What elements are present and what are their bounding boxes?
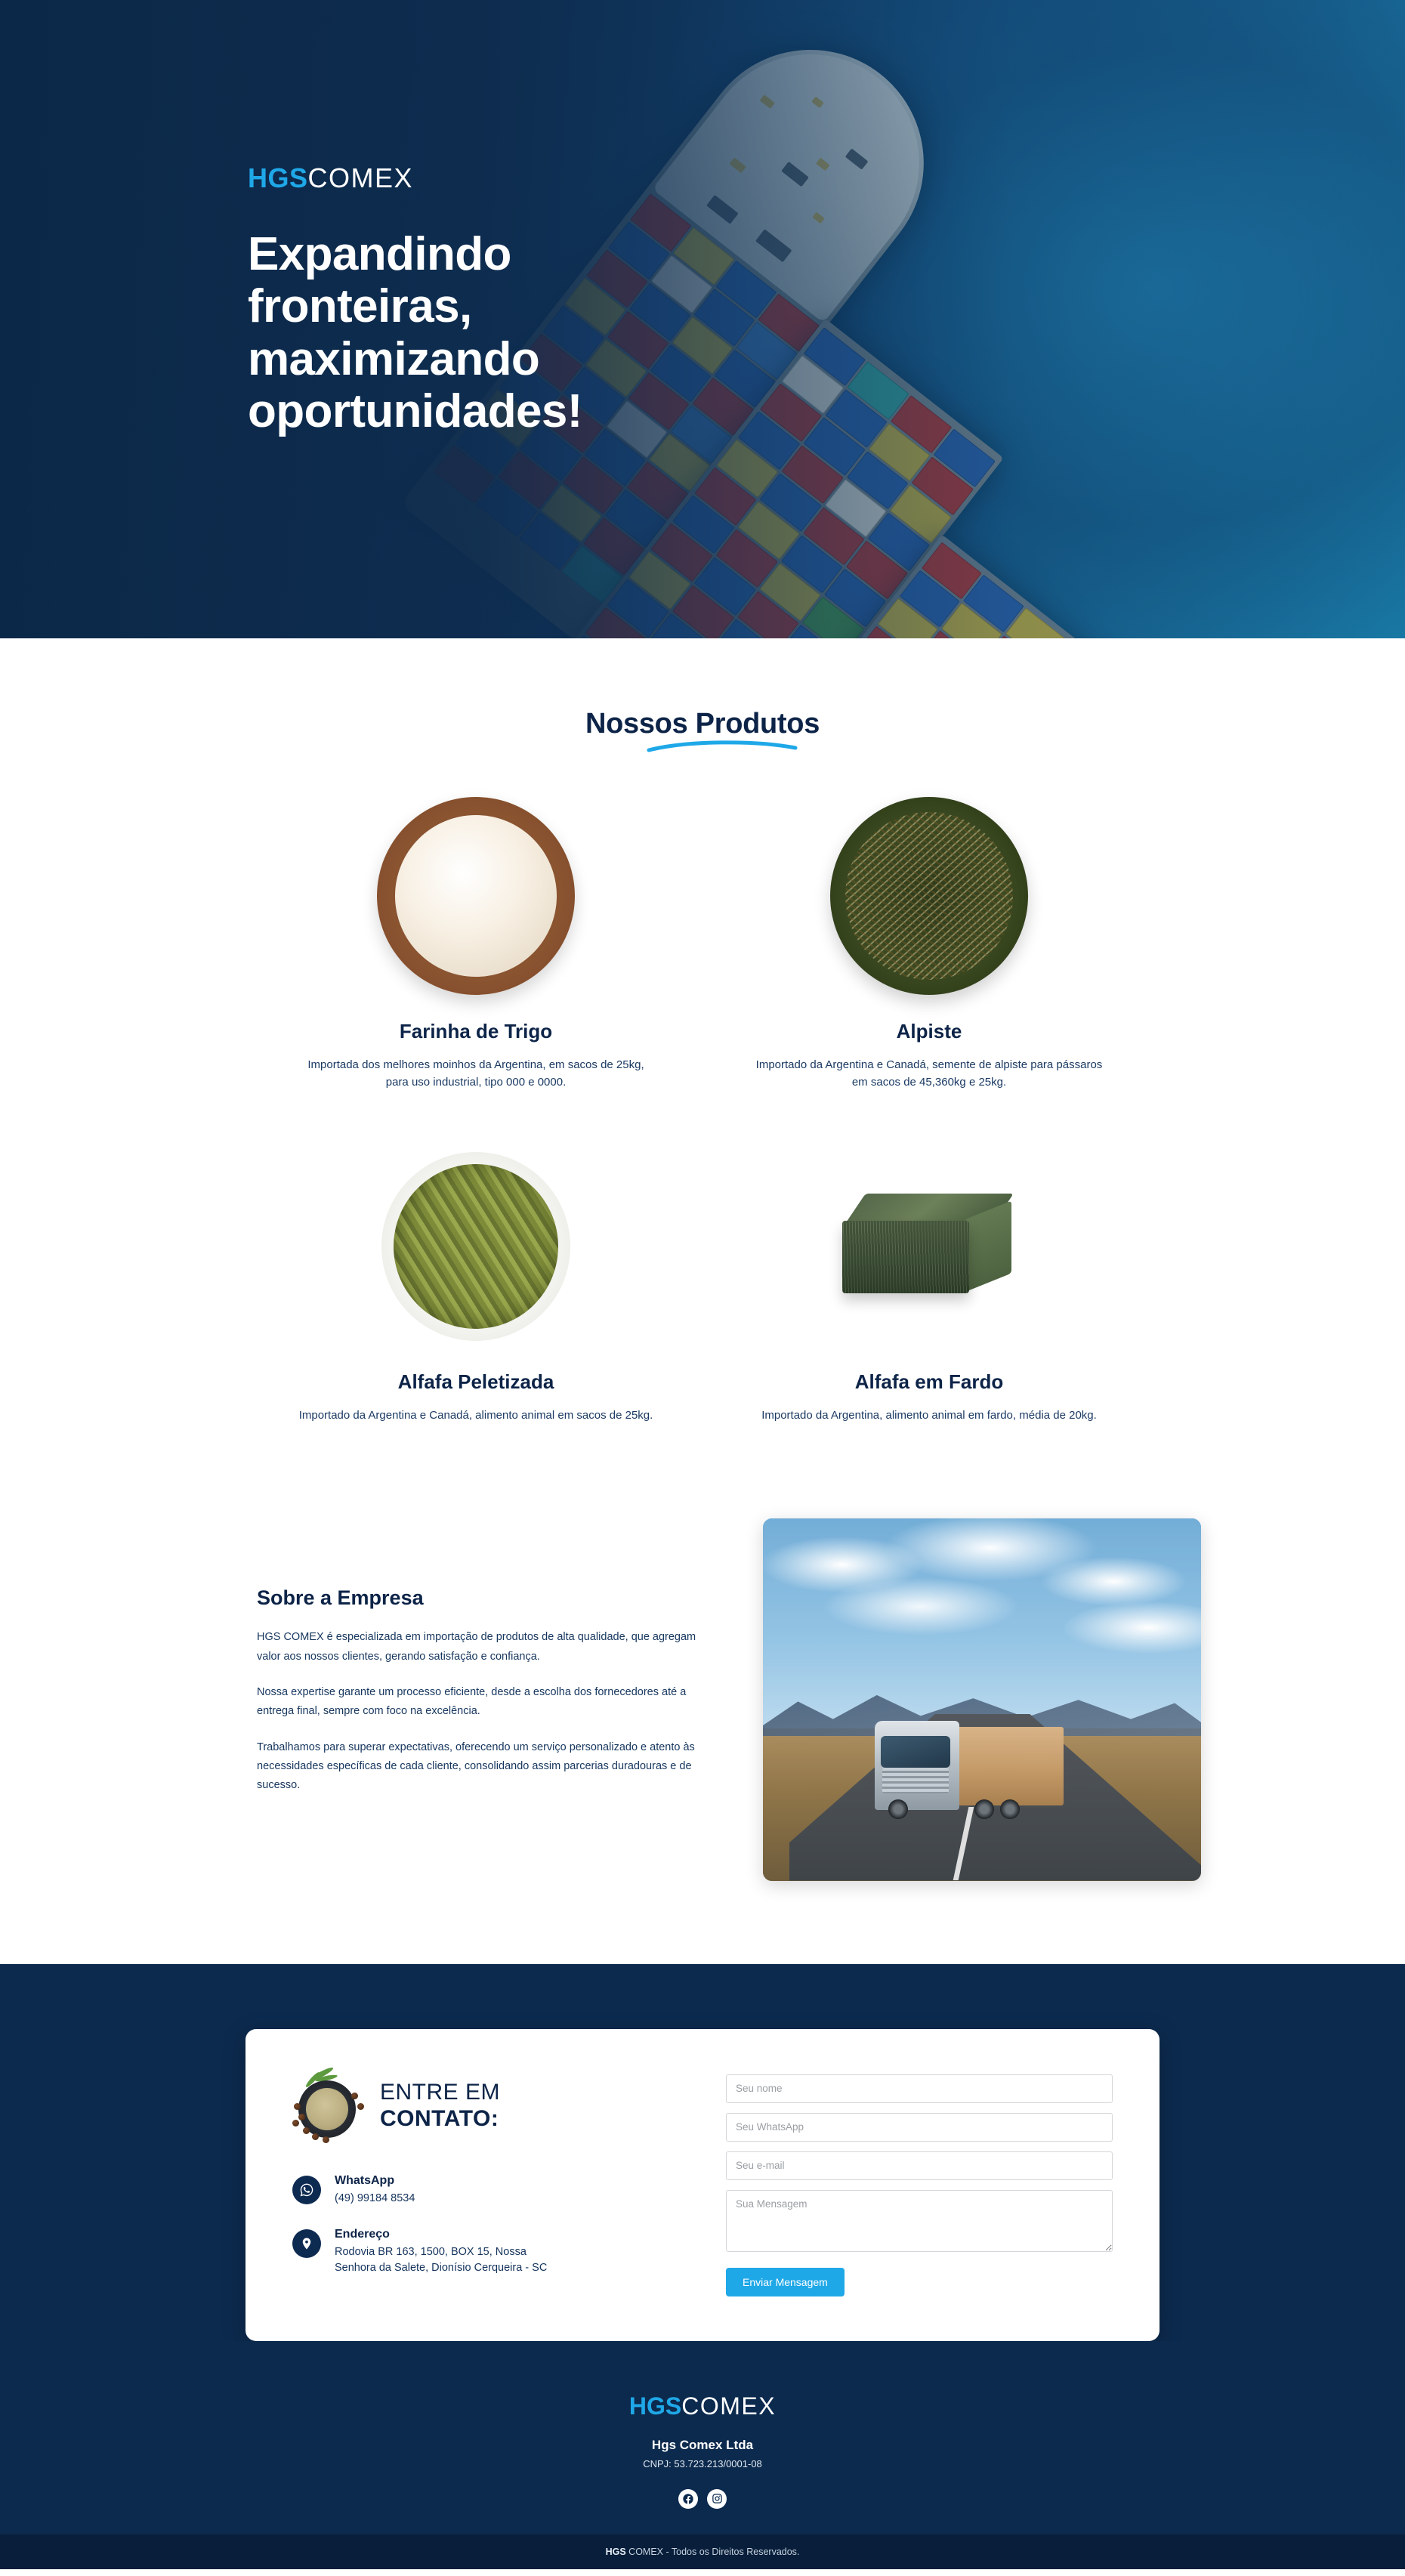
whatsapp-number[interactable]: (49) 99184 8534 [335, 2191, 415, 2207]
contact-form: Enviar Mensagem [726, 2070, 1113, 2297]
about-heading: Sobre a Empresa [257, 1586, 710, 1610]
product-title: Alfafa em Fardo [733, 1370, 1126, 1394]
product-description: Importado da Argentina e Canadá, semente… [752, 1057, 1107, 1091]
product-image-canary-seed [733, 783, 1126, 1009]
about-text-column: Sobre a Empresa HGS COMEX é especializad… [257, 1586, 710, 1812]
address-label: Endereço [335, 2228, 569, 2241]
products-heading: Nossos Produtos [585, 708, 820, 740]
hero-content: HGSCOMEX Expandindo fronteiras, maximiza… [248, 165, 822, 438]
contact-whatsapp-row[interactable]: WhatsApp (49) 99184 8534 [292, 2174, 679, 2207]
whatsapp-icon [292, 2176, 321, 2204]
hero-headline: Expandindo fronteiras, maximizando oport… [248, 228, 716, 438]
products-heading-wrap: Nossos Produtos [0, 708, 1405, 740]
contact-address-row[interactable]: Endereço Rodovia BR 163, 1500, BOX 15, N… [292, 2228, 679, 2276]
product-title: Alpiste [733, 1020, 1126, 1043]
footer-logo-comex: COMEX [681, 2392, 776, 2420]
product-card-alfafa-peletizada[interactable]: Alfafa Peletizada Importado da Argentina… [279, 1133, 672, 1425]
logo-text-comex: COMEX [308, 162, 414, 193]
product-card-alfafa-em-fardo[interactable]: Alfafa em Fardo Importado da Argentina, … [733, 1133, 1126, 1425]
copyright-bar: HGS COMEX - Todos os Direitos Reservados… [0, 2534, 1405, 2569]
whatsapp-input[interactable] [726, 2113, 1113, 2142]
product-image-alfalfa-bale [733, 1133, 1126, 1360]
product-image-alfalfa-pellets [279, 1133, 672, 1360]
facebook-icon[interactable] [678, 2489, 698, 2509]
products-section: Nossos Produtos Farinha de Trigo Importa… [0, 638, 1405, 1470]
hero-section: HGSCOMEX Expandindo fronteiras, maximiza… [0, 0, 1405, 638]
copyright-brand: HGS [606, 2547, 626, 2557]
footer: HGSCOMEX Hgs Comex Ltda CNPJ: 53.723.213… [0, 2341, 1405, 2534]
about-section: Sobre a Empresa HGS COMEX é especializad… [0, 1470, 1405, 1964]
product-description: Importada dos melhores moinhos da Argent… [298, 1057, 653, 1091]
contact-info-column: ENTRE EM CONTATO: WhatsApp (49) 99184 85… [292, 2070, 679, 2297]
instagram-icon[interactable] [707, 2489, 727, 2509]
contact-section: ENTRE EM CONTATO: WhatsApp (49) 99184 85… [0, 1964, 1405, 2569]
product-title: Farinha de Trigo [279, 1020, 672, 1043]
contact-heading-wrap: ENTRE EM CONTATO: [292, 2070, 679, 2142]
copyright-text: COMEX - Todos os Direitos Reservados. [626, 2547, 800, 2557]
footer-company-name: Hgs Comex Ltda [0, 2438, 1405, 2453]
logo-text-hgs: HGS [248, 162, 308, 193]
contact-title: ENTRE EM CONTATO: [380, 2080, 500, 2133]
contact-title-line2: CONTATO: [380, 2106, 500, 2133]
about-truck-image [763, 1518, 1201, 1881]
spice-bowl-icon [292, 2070, 365, 2142]
product-description: Importado da Argentina e Canadá, aliment… [298, 1407, 653, 1425]
about-paragraph-1: HGS COMEX é especializada em importação … [257, 1628, 710, 1666]
product-title: Alfafa Peletizada [279, 1370, 672, 1394]
hero-logo[interactable]: HGSCOMEX [248, 165, 822, 192]
heading-underline-swoosh [647, 737, 798, 754]
about-paragraph-2: Nossa expertise garante um processo efic… [257, 1683, 710, 1722]
name-input[interactable] [726, 2074, 1113, 2103]
truck [875, 1709, 1064, 1822]
whatsapp-label: WhatsApp [335, 2174, 415, 2188]
footer-logo-hgs: HGS [629, 2392, 681, 2420]
contact-card: ENTRE EM CONTATO: WhatsApp (49) 99184 85… [245, 2029, 1160, 2341]
footer-social-links [0, 2489, 1405, 2509]
footer-logo[interactable]: HGSCOMEX [0, 2394, 1405, 2418]
message-textarea[interactable] [726, 2190, 1113, 2252]
footer-cnpj: CNPJ: 53.723.213/0001-08 [0, 2458, 1405, 2469]
contact-title-line1: ENTRE EM [380, 2080, 500, 2106]
product-description: Importado da Argentina, alimento animal … [752, 1407, 1107, 1425]
sky [763, 1518, 1201, 1728]
products-grid: Farinha de Trigo Importada dos melhores … [279, 783, 1126, 1425]
map-pin-icon [292, 2229, 321, 2258]
product-image-wheat-flour [279, 783, 672, 1009]
about-paragraph-3: Trabalhamos para superar expectativas, o… [257, 1738, 710, 1796]
send-message-button[interactable]: Enviar Mensagem [726, 2268, 845, 2296]
product-card-farinha-de-trigo[interactable]: Farinha de Trigo Importada dos melhores … [279, 783, 672, 1091]
product-card-alpiste[interactable]: Alpiste Importado da Argentina e Canadá,… [733, 783, 1126, 1091]
email-input[interactable] [726, 2151, 1113, 2180]
address-value: Rodovia BR 163, 1500, BOX 15, Nossa Senh… [335, 2244, 569, 2276]
